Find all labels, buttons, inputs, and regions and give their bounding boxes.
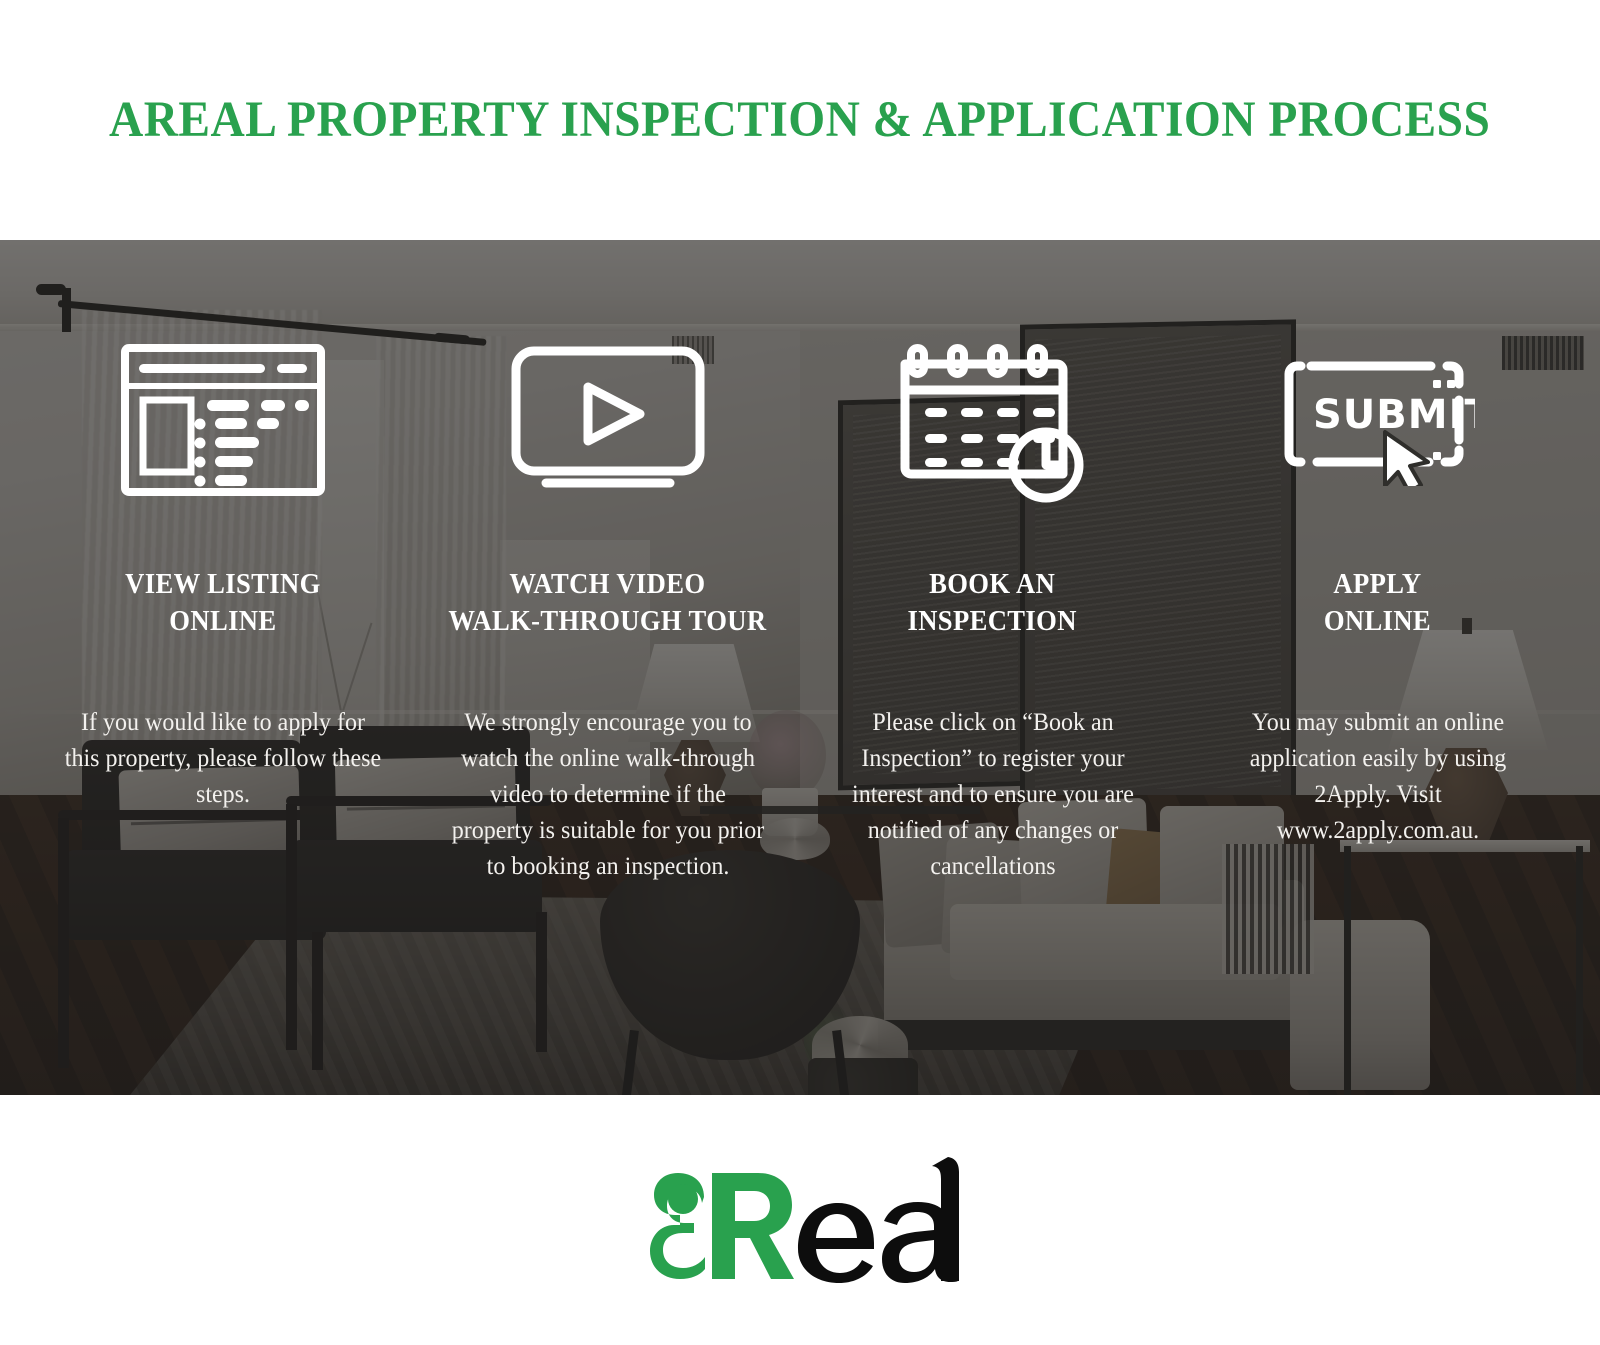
process-steps: VIEW LISTING ONLINE If you would like to… xyxy=(0,240,1600,1095)
step-title: BOOK AN INSPECTION xyxy=(908,567,1077,641)
step-view-listing-online: VIEW LISTING ONLINE If you would like to… xyxy=(30,240,415,1095)
step-apply-online: SUBMIT APPLY ONLINE You may submit an on… xyxy=(1185,240,1570,1095)
logo-letter-a-mirrored xyxy=(650,1173,705,1279)
step-body: We strongly encourage you to watch the o… xyxy=(449,705,766,885)
page-header: AREAL PROPERTY INSPECTION & APPLICATION … xyxy=(0,0,1600,240)
page-title: AREAL PROPERTY INSPECTION & APPLICATION … xyxy=(109,91,1490,149)
submit-icon-label: SUBMIT xyxy=(1313,392,1475,438)
logo-letters-eal xyxy=(798,1157,959,1283)
video-play-icon xyxy=(510,332,706,507)
calendar-clock-icon xyxy=(895,332,1091,507)
step-title: APPLY ONLINE xyxy=(1324,567,1431,641)
step-body: Please click on “Book an Inspection” to … xyxy=(834,705,1151,885)
step-body: You may submit an online application eas… xyxy=(1219,705,1536,849)
step-book-an-inspection: BOOK AN INSPECTION Please click on “Book… xyxy=(800,240,1185,1095)
hero-photo-band: VIEW LISTING ONLINE If you would like to… xyxy=(0,240,1600,1095)
areal-logo xyxy=(640,1145,960,1295)
logo-letter-r xyxy=(712,1173,794,1279)
step-title: WATCH VIDEO WALK-THROUGH TOUR xyxy=(448,567,766,641)
step-title: VIEW LISTING ONLINE xyxy=(125,567,321,641)
infographic-page: AREAL PROPERTY INSPECTION & APPLICATION … xyxy=(0,0,1600,1345)
submit-button-cursor-icon: SUBMIT xyxy=(1281,332,1475,507)
page-footer xyxy=(0,1095,1600,1345)
step-watch-video-tour: WATCH VIDEO WALK-THROUGH TOUR We strongl… xyxy=(415,240,800,1095)
step-body: If you would like to apply for this prop… xyxy=(64,705,381,813)
listing-window-icon xyxy=(121,332,325,507)
